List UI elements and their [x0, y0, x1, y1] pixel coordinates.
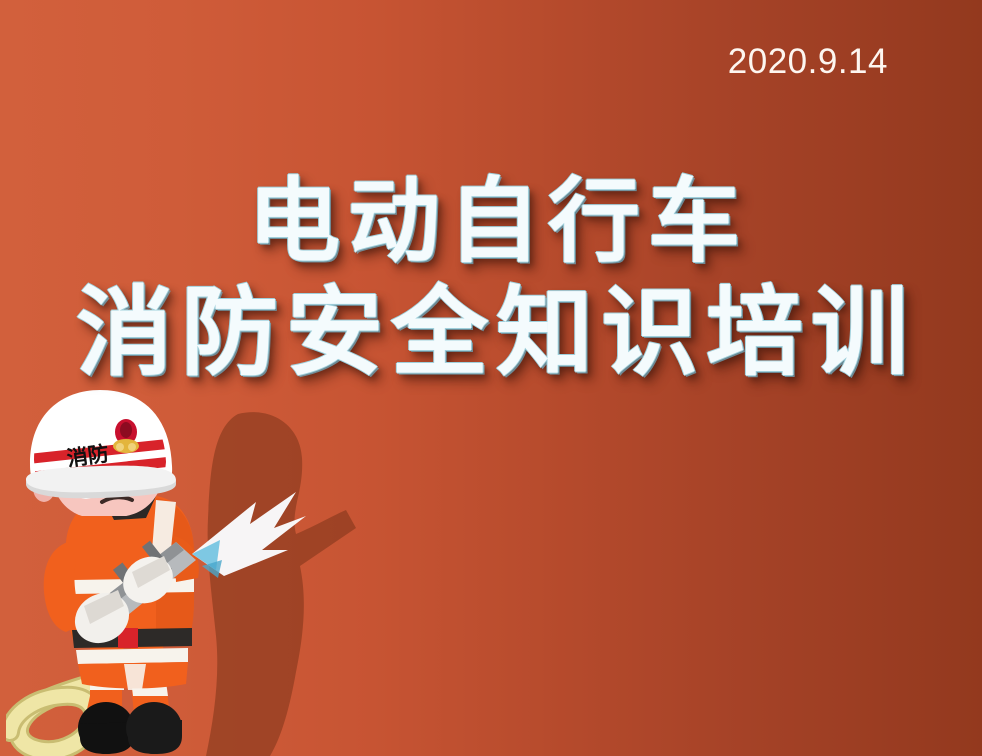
slide-date: 2020.9.14: [0, 44, 982, 79]
firefighter-illustration: 消防: [6, 384, 336, 756]
title-line-2: 消防安全知识培训: [0, 284, 982, 381]
title-line-1: 电动自行车: [0, 176, 982, 268]
title-block: 电动自行车 消防安全知识培训: [0, 176, 982, 381]
slide-canvas: 消防 2020.9.14 电动自行车 消防安全知识培训: [0, 0, 982, 756]
firefighter-helmet: 消防: [26, 390, 176, 498]
